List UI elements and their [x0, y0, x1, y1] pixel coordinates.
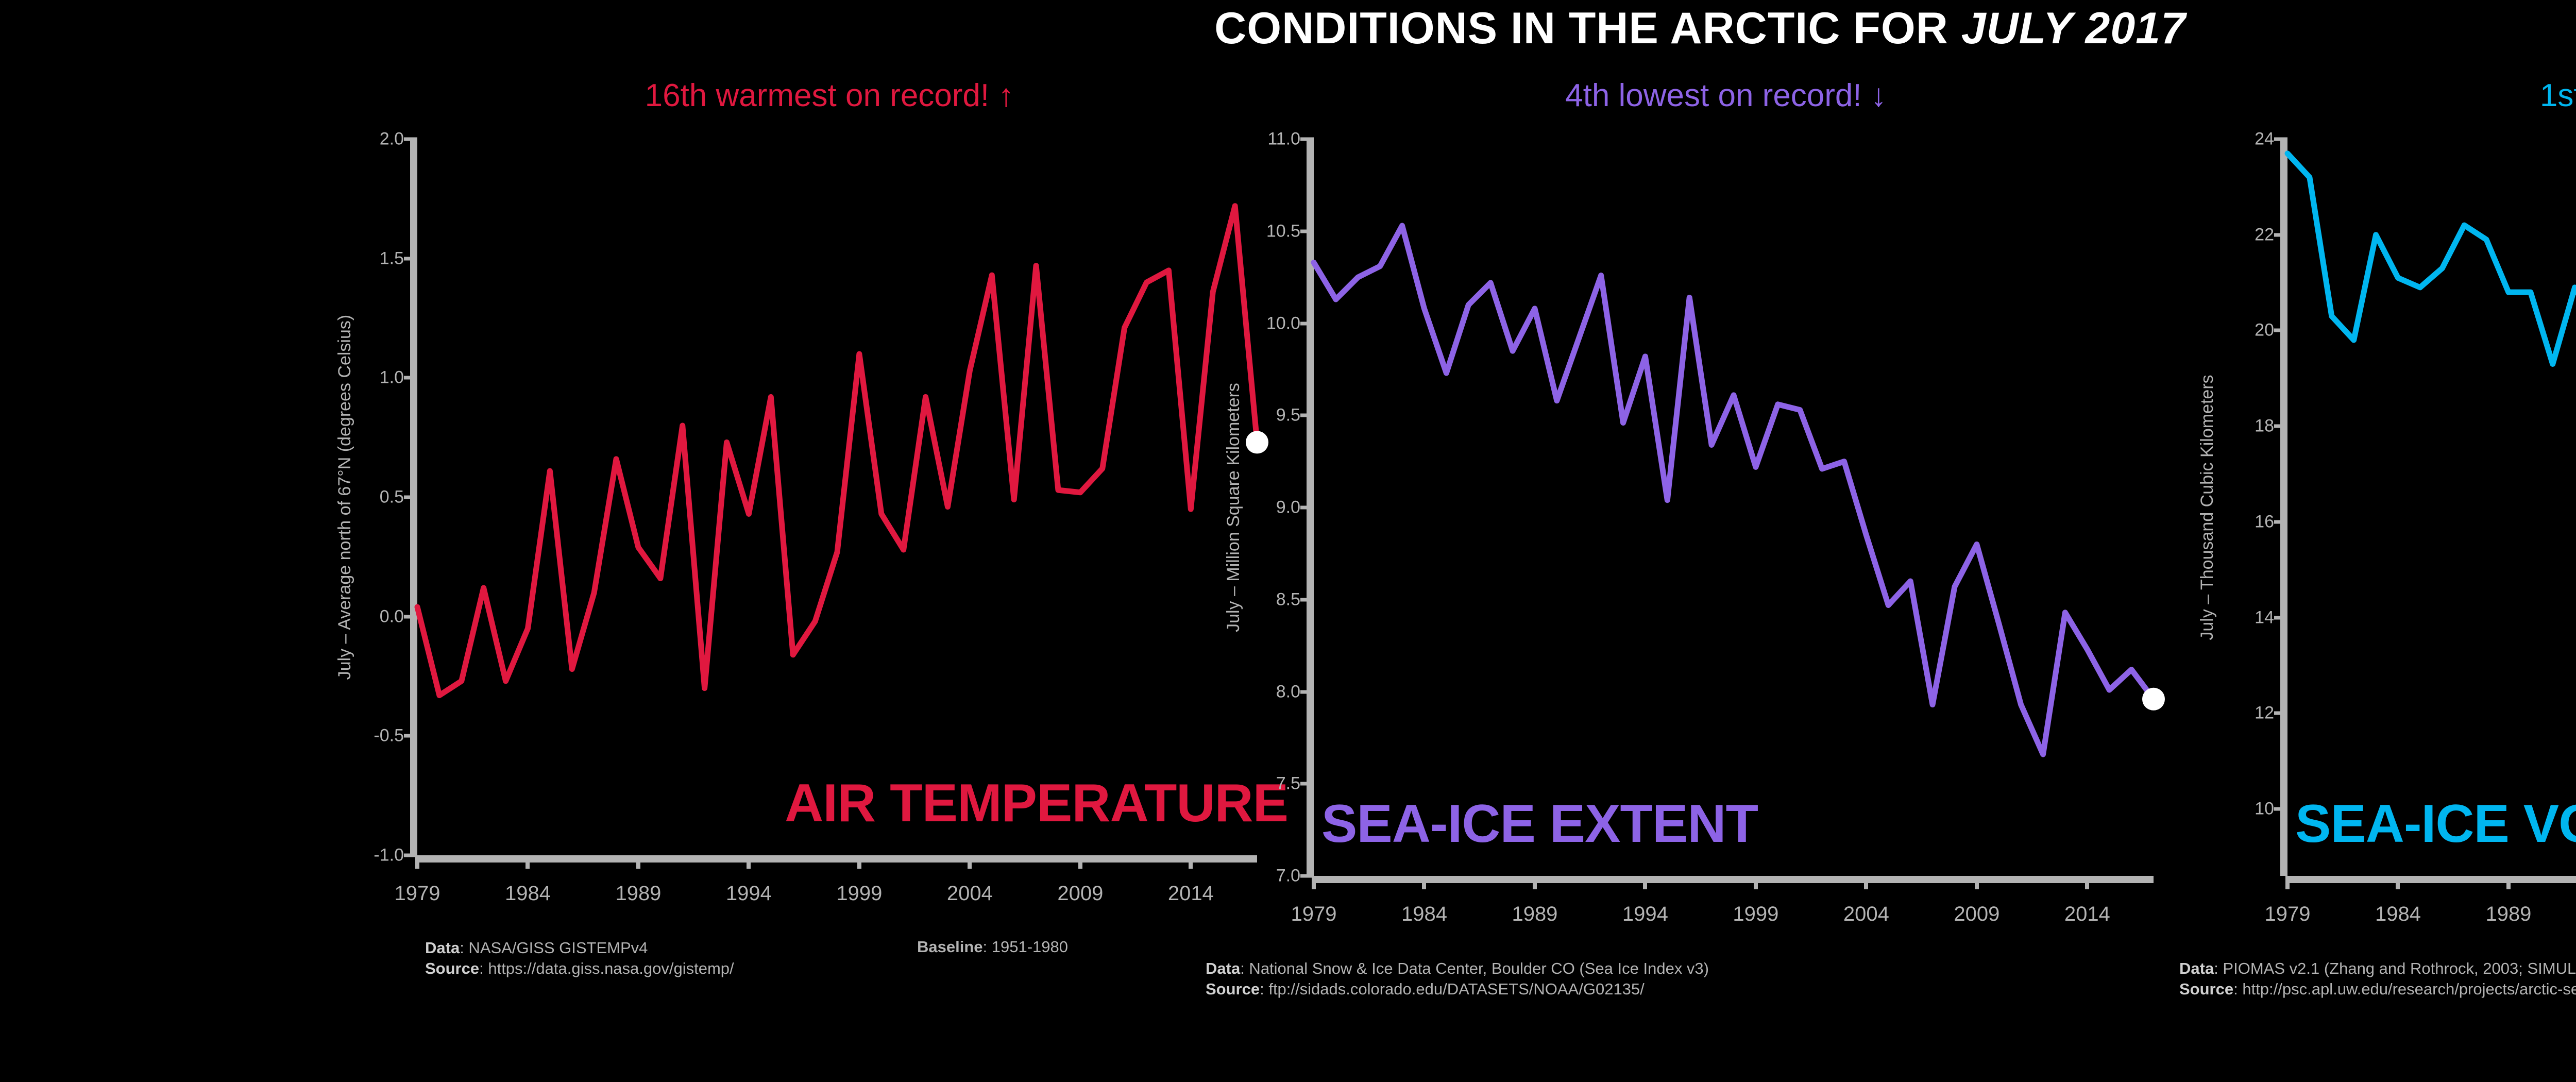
x-tick-label: 1994 — [726, 882, 772, 905]
y-tick-mark — [2274, 425, 2287, 428]
plot-area-sea-ice-volume: 2422201816141210197919841989199419992004… — [2287, 139, 2576, 876]
y-tick-label: 12 — [2255, 703, 2274, 723]
x-tick-label: 2004 — [947, 882, 993, 905]
x-tick-mark — [2285, 876, 2290, 889]
x-tick-label: 2009 — [1954, 903, 1999, 926]
y-axis-label-sea-ice-extent: July – Million Square Kilometers — [1224, 383, 1244, 632]
y-tick-mark — [2274, 138, 2287, 141]
x-tick-mark — [968, 855, 972, 869]
y-tick-label: 8.5 — [1276, 589, 1300, 610]
footer-data-value: : NASA/GISS GISTEMPv4 — [460, 939, 648, 957]
y-tick-mark — [1300, 598, 1314, 601]
footer-data-label: Data — [425, 939, 460, 957]
x-tick-mark — [2506, 876, 2511, 889]
panel-sea-ice-extent: 4th lowest on record! ↓11.010.510.09.59.… — [1206, 77, 2184, 1082]
x-tick-mark — [415, 855, 419, 869]
x-tick-mark — [1643, 876, 1647, 889]
y-tick-label: 8.0 — [1276, 682, 1300, 702]
y-tick-mark — [404, 257, 417, 260]
footer-data-value: : PIOMAS v2.1 (Zhang and Rothrock, 2003;… — [2214, 959, 2576, 977]
y-tick-mark — [1300, 138, 1314, 141]
y-tick-label: 9.5 — [1276, 405, 1300, 426]
y-tick-label: 0.0 — [380, 606, 404, 627]
y-tick-label: 16 — [2255, 512, 2274, 532]
footer-source-line: Source: https://data.giss.nasa.gov/giste… — [425, 958, 734, 979]
x-tick-label: 1989 — [615, 882, 661, 905]
x-tick-mark — [1864, 876, 1868, 889]
y-tick-mark — [2274, 807, 2287, 811]
series-sea-ice-volume — [2287, 139, 2576, 876]
x-tick-mark — [1422, 876, 1426, 889]
footer-data-value: : National Snow & Ice Data Center, Bould… — [1240, 959, 1709, 977]
footer-data-line: Data: NASA/GISS GISTEMPv4 — [425, 938, 734, 958]
x-tick-label: 2004 — [1843, 903, 1889, 926]
x-tick-label: 2014 — [2064, 903, 2110, 926]
y-tick-label: 14 — [2255, 607, 2274, 628]
series-air-temperature — [417, 139, 1257, 855]
y-tick-mark — [1300, 690, 1314, 694]
plot-area-air-temperature: 2.01.51.00.50.0-0.5-1.019791984198919941… — [417, 139, 1257, 855]
y-tick-label: 11.0 — [1267, 129, 1300, 149]
y-tick-label: 9.0 — [1276, 498, 1300, 518]
y-tick-mark — [2274, 520, 2287, 523]
x-tick-label: 1979 — [2265, 903, 2311, 926]
y-tick-label: 1.5 — [380, 248, 404, 268]
x-tick-label: 1984 — [1401, 903, 1447, 926]
y-tick-label: 20 — [2255, 320, 2274, 341]
footer-source-value: : http://psc.apl.uw.edu/research/project… — [2233, 980, 2576, 998]
latest-value-marker — [2142, 688, 2165, 711]
y-tick-label: 7.0 — [1276, 866, 1300, 886]
y-tick-label: 1.0 — [380, 368, 404, 388]
x-tick-mark — [1533, 876, 1537, 889]
x-tick-label: 1989 — [1512, 903, 1557, 926]
panel-sea-ice-volume: 1st lowest on record! ↓24222018161412101… — [2179, 77, 2576, 1082]
footer-source-label: Source — [2179, 980, 2233, 998]
plot-area-sea-ice-extent: 11.010.510.09.59.08.58.07.57.01979198419… — [1314, 139, 2154, 876]
x-tick-label: 1984 — [505, 882, 551, 905]
y-tick-label: 18 — [2255, 416, 2274, 436]
footer-air-temperature: Data: NASA/GISS GISTEMPv4Source: https:/… — [425, 938, 734, 979]
y-tick-label: 10.5 — [1266, 221, 1300, 241]
baseline-label: Baseline — [917, 938, 983, 956]
x-tick-label: 1979 — [395, 882, 440, 905]
x-tick-label: 1994 — [1622, 903, 1668, 926]
footer-source-line: Source: http://psc.apl.uw.edu/research/p… — [2179, 979, 2576, 1000]
y-tick-mark — [2274, 233, 2287, 236]
y-tick-label: 10.0 — [1266, 313, 1300, 333]
y-tick-mark — [1300, 229, 1314, 233]
data-line — [1314, 226, 2154, 754]
page-title-month: JULY 2017 — [1961, 4, 2186, 53]
y-tick-mark — [2274, 329, 2287, 332]
x-tick-label: 1984 — [2375, 903, 2421, 926]
x-axis-line — [1314, 876, 2154, 883]
footer-sea-ice-extent: Data: National Snow & Ice Data Center, B… — [1206, 958, 1709, 1000]
data-line — [2287, 154, 2576, 852]
footer-data-line: Data: PIOMAS v2.1 (Zhang and Rothrock, 2… — [2179, 958, 2576, 979]
y-tick-label: 22 — [2255, 225, 2274, 245]
page-title: CONDITIONS IN THE ARCTIC FOR JULY 2017 — [0, 3, 2576, 54]
y-tick-label: 7.5 — [1276, 774, 1300, 794]
footer-data-line: Data: National Snow & Ice Data Center, B… — [1206, 958, 1709, 979]
y-tick-mark — [1300, 506, 1314, 510]
y-tick-mark — [404, 376, 417, 380]
baseline-note: Baseline: 1951-1980 — [917, 938, 1068, 956]
series-sea-ice-extent — [1314, 139, 2154, 876]
panel-subtitle-sea-ice-extent: 4th lowest on record! ↓ — [1267, 77, 2184, 114]
x-tick-label: 2009 — [1057, 882, 1103, 905]
panel-subtitle-air-temperature: 16th warmest on record! ↑ — [371, 77, 1288, 114]
y-axis-label-air-temperature: July – Average north of 67°N (degrees Ce… — [335, 315, 355, 680]
footer-source-value: : https://data.giss.nasa.gov/gistemp/ — [479, 959, 734, 977]
x-tick-mark — [1975, 876, 1979, 889]
x-tick-mark — [1189, 855, 1193, 869]
y-tick-mark — [404, 615, 417, 618]
x-tick-mark — [2085, 876, 2089, 889]
y-tick-mark — [1300, 782, 1314, 786]
data-line — [417, 206, 1257, 696]
x-tick-mark — [1078, 855, 1082, 869]
footer-source-label: Source — [1206, 980, 1260, 998]
y-axis-line — [2280, 139, 2287, 876]
footer-source-line: Source: ftp://sidads.colorado.edu/DATASE… — [1206, 979, 1709, 1000]
x-tick-mark — [1312, 876, 1316, 889]
y-tick-mark — [404, 138, 417, 141]
x-tick-mark — [747, 855, 751, 869]
y-tick-label: 2.0 — [380, 129, 404, 149]
x-tick-mark — [2396, 876, 2400, 889]
footer-source-label: Source — [425, 959, 479, 977]
y-tick-label: 0.5 — [380, 487, 404, 508]
x-tick-mark — [857, 855, 861, 869]
x-tick-label: 1999 — [836, 882, 882, 905]
page-title-main: CONDITIONS IN THE ARCTIC FOR — [1214, 4, 1961, 53]
y-tick-label: 24 — [2255, 129, 2274, 149]
x-tick-mark — [1754, 876, 1758, 889]
x-tick-mark — [526, 855, 530, 869]
y-tick-label: -0.5 — [374, 726, 404, 746]
y-tick-mark — [1300, 414, 1314, 417]
panel-subtitle-sea-ice-volume: 1st lowest on record! ↓ — [2241, 77, 2576, 114]
panel-name-sea-ice-volume: SEA-ICE VOLUME — [2295, 793, 2576, 855]
panel-air-temperature: 16th warmest on record! ↑2.01.51.00.50.0… — [309, 77, 1288, 1082]
y-axis-label-sea-ice-volume: July – Thousand Cubic Kilometers — [2197, 375, 2217, 640]
x-axis-line — [417, 855, 1257, 863]
x-tick-label: 1989 — [2485, 903, 2531, 926]
footer-sea-ice-volume: Data: PIOMAS v2.1 (Zhang and Rothrock, 2… — [2179, 958, 2576, 1000]
footer-data-label: Data — [2179, 959, 2214, 977]
y-tick-mark — [2274, 712, 2287, 715]
x-tick-label: 1979 — [1291, 903, 1337, 926]
footer-source-value: : ftp://sidads.colorado.edu/DATASETS/NOA… — [1260, 980, 1645, 998]
y-tick-mark — [404, 496, 417, 499]
y-tick-mark — [1300, 322, 1314, 325]
x-tick-mark — [636, 855, 640, 869]
panel-name-sea-ice-extent: SEA-ICE EXTENT — [1321, 793, 1758, 855]
y-tick-mark — [404, 734, 417, 738]
baseline-value: : 1951-1980 — [983, 938, 1068, 956]
footer-data-label: Data — [1206, 959, 1240, 977]
x-tick-label: 1999 — [1733, 903, 1778, 926]
y-tick-label: 10 — [2255, 799, 2274, 819]
y-tick-label: -1.0 — [374, 846, 404, 866]
x-axis-line — [2287, 876, 2576, 883]
y-tick-mark — [2274, 616, 2287, 619]
